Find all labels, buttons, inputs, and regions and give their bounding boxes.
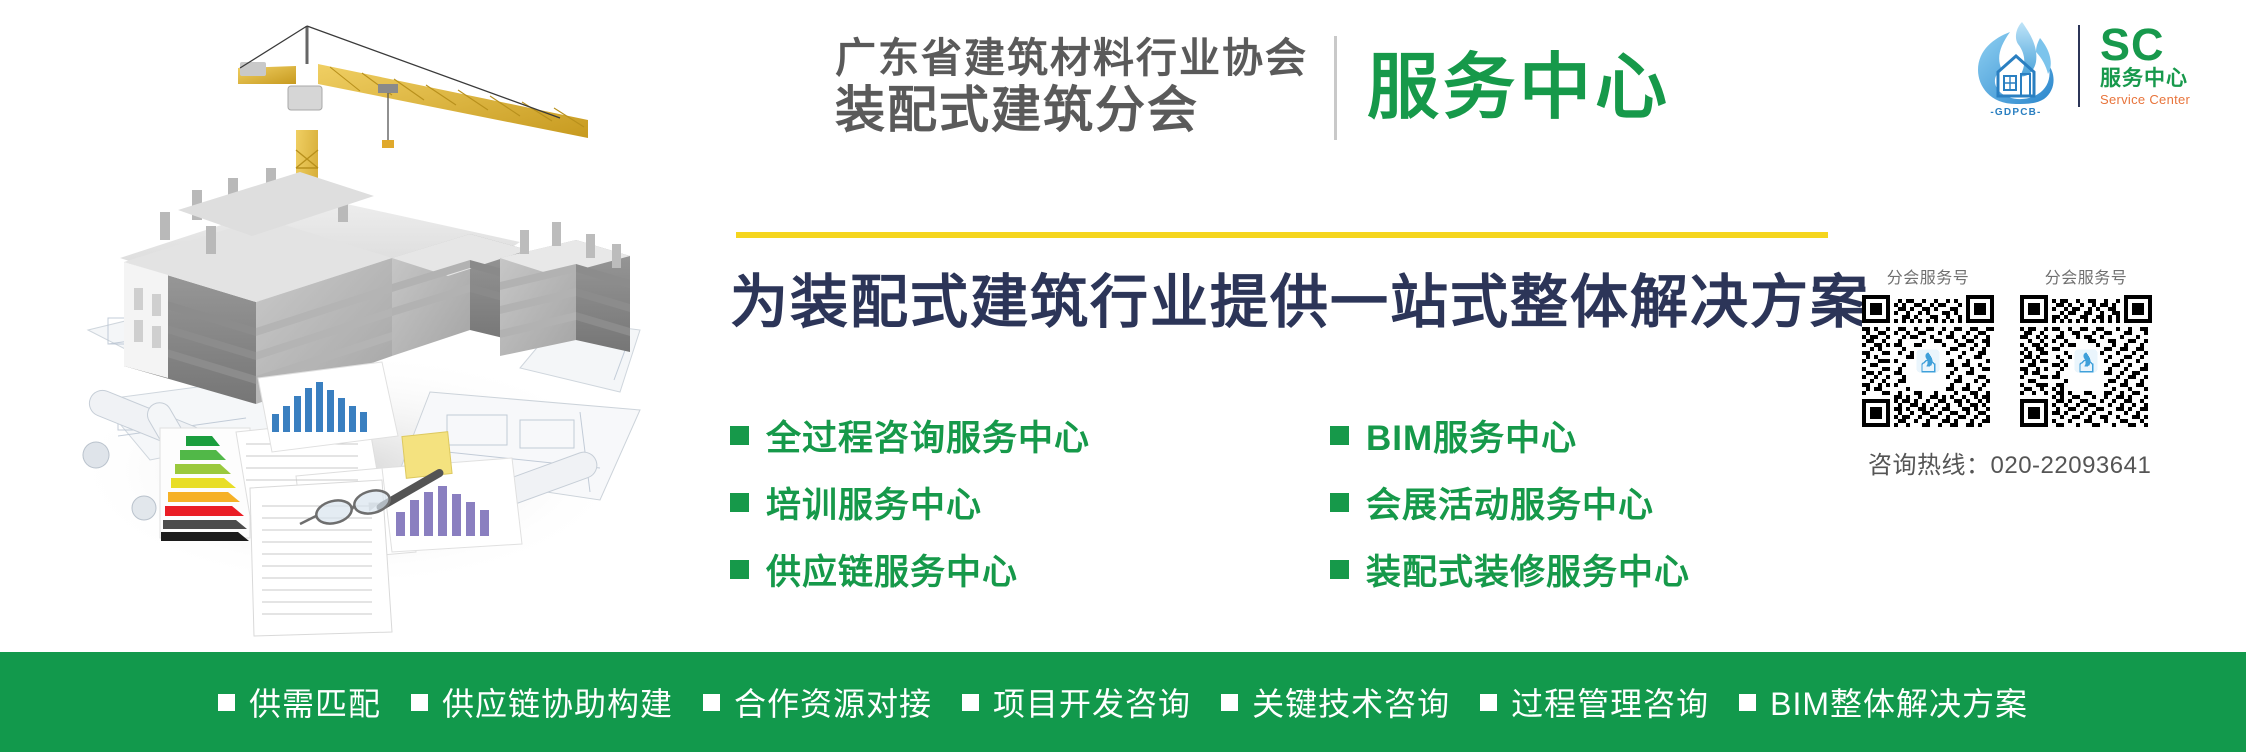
bottom-service-bar: 供需匹配 供应链协助构建 合作资源对接 项目开发咨询 关键技术咨询 过程管理咨询… — [0, 652, 2246, 752]
square-bullet-icon — [1739, 694, 1756, 711]
service-item[interactable]: 供应链服务中心 — [730, 544, 1330, 595]
service-item-label: 装配式装修服务中心 — [1366, 544, 1690, 595]
flame-leaf-2 — [2036, 38, 2051, 74]
square-bullet-icon — [730, 560, 749, 579]
qr-caption: 分会服务号 — [2020, 264, 2152, 288]
sticky-note — [402, 432, 452, 479]
service-center-banner: 广东省建筑材料行业协会 装配式建筑分会 服务中心 为装配式建筑行业提供一站式整体… — [0, 0, 2246, 752]
square-bullet-icon — [1330, 426, 1349, 445]
service-item[interactable]: 全过程咨询服务中心 — [730, 410, 1330, 461]
sc-letters: SC — [2100, 24, 2165, 67]
bar-chart-blue — [258, 362, 398, 452]
service-item[interactable]: 装配式装修服务中心 — [1330, 544, 1810, 595]
flame-leaf — [2016, 22, 2036, 76]
service-item-label: 供应链服务中心 — [766, 544, 1018, 595]
bar-item[interactable]: 合作资源对接 — [703, 679, 932, 725]
qr-code-image-1[interactable] — [1862, 295, 1994, 427]
service-item[interactable]: 会展活动服务中心 — [1330, 477, 1810, 528]
gdpcb-emblem-icon: -GDPCB- — [1970, 16, 2062, 116]
association-line-1: 广东省建筑材料行业协会 — [835, 36, 1308, 82]
service-item[interactable]: BIM服务中心 — [1330, 410, 1810, 461]
bar-item[interactable]: 过程管理咨询 — [1480, 679, 1709, 725]
square-bullet-icon — [730, 493, 749, 512]
header-title-block: 广东省建筑材料行业协会 装配式建筑分会 服务中心 — [835, 36, 1895, 140]
qr-contact-block: 分会服务号 — [1862, 264, 2242, 480]
square-bullet-icon — [962, 694, 979, 711]
bar-item-label: 关键技术咨询 — [1252, 679, 1450, 725]
square-bullet-icon — [411, 694, 428, 711]
service-item-label: 会展活动服务中心 — [1366, 477, 1654, 528]
service-item[interactable]: 培训服务中心 — [730, 477, 1330, 528]
bar-item[interactable]: BIM整体解决方案 — [1739, 679, 2028, 725]
square-bullet-icon — [730, 426, 749, 445]
energy-rating-chart — [160, 428, 250, 541]
qr-code-row: 分会服务号 — [1862, 264, 2242, 427]
hotline-text: 咨询热线：020-22093641 — [1862, 445, 2242, 480]
qr-svg-2 — [2020, 295, 2152, 427]
service-center-heading: 服务中心 — [1337, 52, 1671, 124]
qr-cell: 分会服务号 — [2020, 264, 2152, 427]
logo-divider — [2078, 25, 2080, 107]
construction-scene-svg — [0, 0, 660, 652]
square-bullet-icon — [1480, 694, 1497, 711]
bar-item[interactable]: 供应链协助构建 — [411, 679, 673, 725]
construction-illustration — [0, 0, 660, 652]
slogan-text: 为装配式建筑行业提供一站式整体解决方案 — [730, 255, 1870, 339]
service-item-label: 培训服务中心 — [766, 477, 982, 528]
service-item-label: BIM服务中心 — [1366, 410, 1577, 461]
bar-item[interactable]: 供需匹配 — [218, 679, 381, 725]
qr-svg-1 — [1862, 295, 1994, 427]
gdpcb-wordmark: -GDPCB- — [1970, 107, 2062, 118]
square-bullet-icon — [1221, 694, 1238, 711]
square-bullet-icon — [1330, 560, 1349, 579]
bar-item-label: 过程管理咨询 — [1511, 679, 1709, 725]
square-bullet-icon — [1330, 493, 1349, 512]
bar-item-label: BIM整体解决方案 — [1770, 679, 2028, 725]
yellow-divider-rule — [736, 232, 1828, 238]
qr-caption: 分会服务号 — [1862, 264, 1994, 288]
qr-code-image-2[interactable] — [2020, 295, 2152, 427]
association-line-2: 装配式建筑分会 — [835, 82, 1199, 140]
bar-item-label: 合作资源对接 — [734, 679, 932, 725]
gdpcb-house-flame-svg — [1970, 16, 2062, 108]
bar-item-label: 供应链协助构建 — [442, 679, 673, 725]
sc-logo-block: SC 服务中心 Service Center — [2100, 24, 2190, 109]
qr-cell: 分会服务号 — [1862, 264, 1994, 427]
sc-english-label: Service Center — [2100, 92, 2190, 109]
association-name: 广东省建筑材料行业协会 装配式建筑分会 — [835, 36, 1334, 139]
bar-item-label: 项目开发咨询 — [993, 679, 1191, 725]
square-bullet-icon — [218, 694, 235, 711]
brand-logo: -GDPCB- SC 服务中心 Service Center — [1970, 14, 2236, 118]
bar-item[interactable]: 关键技术咨询 — [1221, 679, 1450, 725]
square-bullet-icon — [703, 694, 720, 711]
service-center-list: 全过程咨询服务中心 BIM服务中心 培训服务中心 会展活动服务中心 供应链服务中… — [730, 402, 1810, 603]
sc-chinese-label: 服务中心 — [2100, 66, 2188, 91]
bar-item-label: 供需匹配 — [249, 679, 381, 725]
bar-item[interactable]: 项目开发咨询 — [962, 679, 1191, 725]
service-item-label: 全过程咨询服务中心 — [766, 410, 1090, 461]
